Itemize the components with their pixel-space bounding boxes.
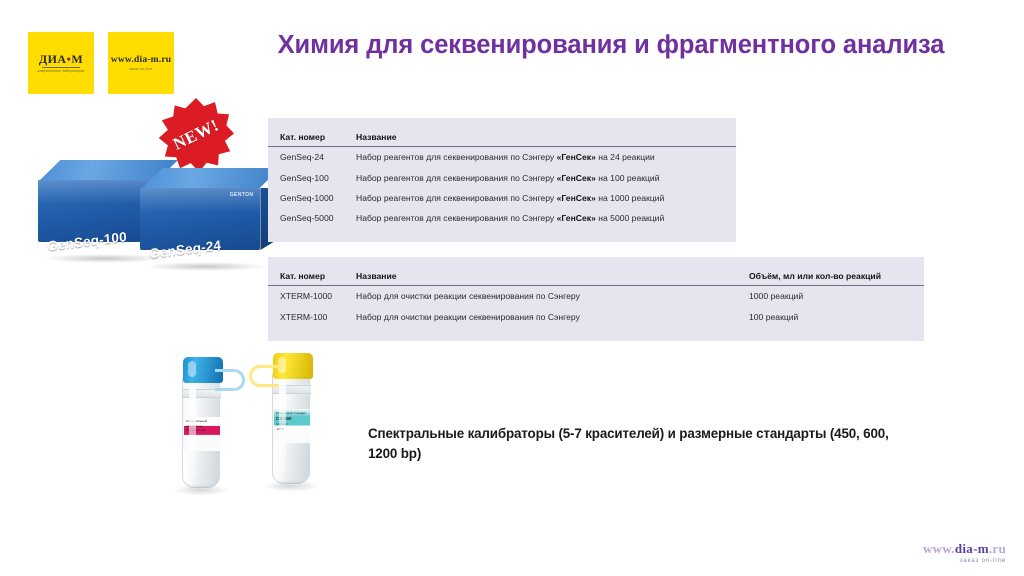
sequencing-kits-table: Кат. номер Название GenSeq-24Набор реаге… — [268, 118, 736, 242]
column-header-name: Название — [356, 257, 749, 286]
cell-product-name: Набор для очистки реакции секвенирования… — [356, 306, 749, 326]
tube-label-line: Спектральный — [186, 419, 215, 423]
website-logo-url: www.dia-m.ru — [111, 55, 171, 65]
table-row: XTERM-1000Набор для очистки реакции секв… — [268, 286, 924, 307]
tube-cap-icon — [273, 353, 313, 379]
tube-label-line: 5 красителей — [186, 428, 215, 432]
product-box-genseq-24: GENTON GenSeq-24 — [140, 168, 280, 266]
tube-body: Спектральный калибратор 5 красителей — [182, 376, 220, 488]
website-logo-tile: www.dia-m.ru заказ on-line — [108, 32, 174, 94]
cell-product-name: Набор реагентов для секвенирования по Сэ… — [356, 188, 736, 208]
table-row: GenSeq-24Набор реагентов для секвенирова… — [268, 147, 736, 168]
footer-url: www.dia-m.ru — [923, 542, 1006, 555]
tube-label-line: Размерный стандарт — [276, 411, 305, 415]
column-header-volume: Объём, мл или кол-во реакций — [749, 257, 924, 286]
cell-volume: 1000 реакций — [749, 286, 924, 307]
company-logo-tagline: современные лаборатории — [37, 69, 84, 73]
new-badge-label: NEW! — [170, 115, 222, 154]
tube-drop-shadow — [172, 484, 230, 496]
company-logo-wordmark: ДИА•М — [39, 53, 83, 65]
cell-product-name: Набор реагентов для секвенирования по Сэ… — [356, 208, 736, 228]
column-header-catalog: Кат. номер — [268, 118, 356, 147]
table-row: GenSeq-100Набор реагентов для секвениров… — [268, 167, 736, 187]
box-drop-shadow — [144, 262, 267, 271]
box-top-face — [140, 168, 280, 190]
slide-canvas: ДИА•М современные лаборатории www.dia-m.… — [0, 0, 1024, 576]
logo-divider — [42, 67, 80, 68]
tube-neck — [273, 385, 311, 394]
table-header-row: Кат. номер Название Объём, мл или кол-во… — [268, 257, 924, 286]
tube-hinge — [215, 369, 245, 391]
page-title: Химия для секвенирования и фрагментного … — [258, 28, 964, 62]
tube-label-code: CS-450 — [276, 416, 305, 422]
cell-product-name: Набор реагентов для секвенирования по Сэ… — [356, 167, 736, 187]
footer-watermark: www.dia-m.ru заказ on-line — [923, 542, 1006, 564]
cell-catalog-number: GenSeq-100 — [268, 167, 356, 187]
cell-catalog-number: GenSeq-24 — [268, 147, 356, 168]
tube-blue-cap: Спектральный калибратор 5 красителей — [182, 376, 220, 488]
company-logo-tile: ДИА•М современные лаборатории — [28, 32, 94, 94]
table-row: GenSeq-1000Набор реагентов для секвениро… — [268, 188, 736, 208]
cell-product-name: Набор для очистки реакции секвенирования… — [356, 286, 749, 307]
caption-text: Спектральные калибраторы (5-7 красителей… — [368, 424, 898, 465]
cell-catalog-number: GenSeq-1000 — [268, 188, 356, 208]
tube-label: Спектральный калибратор 5 красителей — [184, 417, 220, 451]
tube-drop-shadow — [262, 480, 320, 492]
tube-hinge — [249, 365, 279, 387]
tube-body: Размерный стандарт CS-450 100 мкл -20°C — [272, 372, 310, 484]
table-row: XTERM-100Набор для очистки реакции секве… — [268, 306, 924, 326]
tube-label-line: -20°C — [276, 427, 305, 431]
website-logo-subtitle: заказ on-line — [129, 67, 153, 71]
cell-catalog-number: XTERM-100 — [268, 306, 356, 326]
tube-yellow-cap: Размерный стандарт CS-450 100 мкл -20°C — [272, 372, 310, 484]
table-row: GenSeq-5000Набор реагентов для секвениро… — [268, 208, 736, 228]
footer-subtitle: заказ on-line — [923, 558, 1006, 564]
purification-kits-table: Кат. номер Название Объём, мл или кол-во… — [268, 257, 924, 341]
cell-product-name: Набор реагентов для секвенирования по Сэ… — [356, 147, 736, 168]
cell-catalog-number: GenSeq-5000 — [268, 208, 356, 228]
tube-label-line: 100 мкл — [276, 423, 305, 427]
cell-volume: 100 реакций — [749, 306, 924, 326]
box-brand-mark: GENTON — [230, 192, 254, 198]
tube-label: Размерный стандарт CS-450 100 мкл -20°C — [274, 409, 310, 443]
cell-catalog-number: XTERM-1000 — [268, 286, 356, 307]
column-header-catalog: Кат. номер — [268, 257, 356, 286]
column-header-name: Название — [356, 118, 736, 147]
table-header-row: Кат. номер Название — [268, 118, 736, 147]
